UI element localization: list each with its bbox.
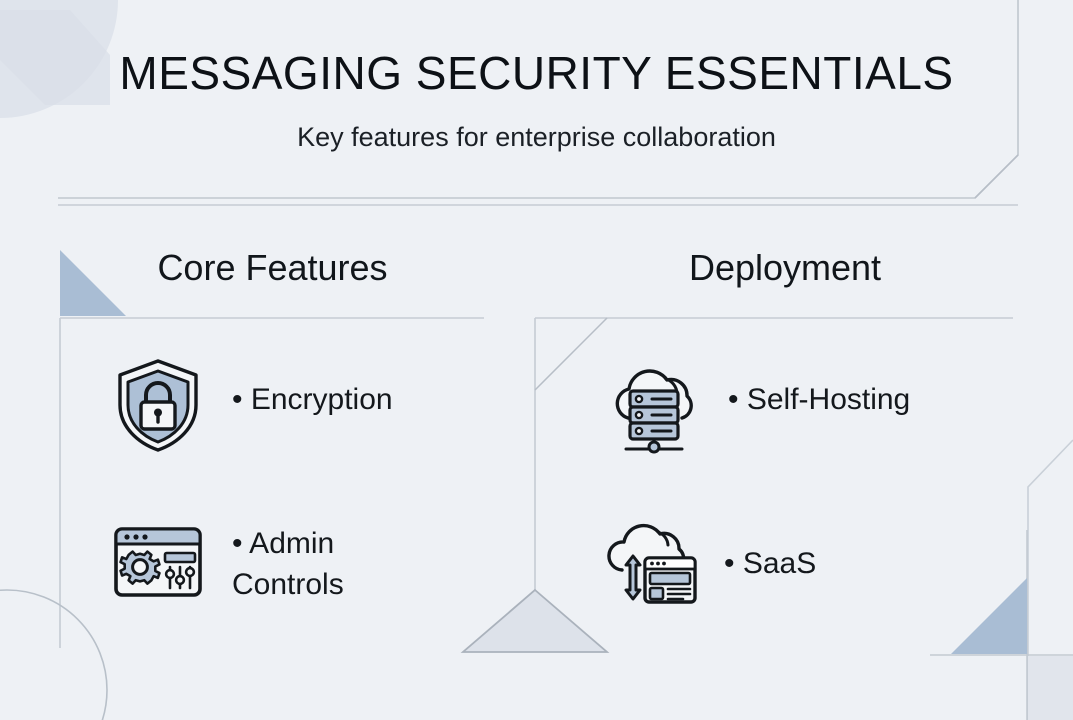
feature-label-admin-controls: • Admin Controls xyxy=(208,512,344,606)
right-column-chamfer xyxy=(535,318,607,390)
cloud-server-icon xyxy=(604,355,704,455)
feature-item-saas: • SaaS xyxy=(600,512,1030,612)
feature-item-self-hosting: • Self-Hosting xyxy=(604,355,1034,455)
column-title-core-features: Core Features xyxy=(60,250,485,286)
feature-item-encryption: • Encryption xyxy=(108,355,488,455)
right-panel-chamfer-decoration xyxy=(1028,440,1073,720)
bottom-right-panel-fill xyxy=(1028,656,1073,720)
shield-lock-icon xyxy=(108,355,208,455)
feature-item-admin-controls: • Admin Controls xyxy=(108,512,488,612)
admin-controls-icon xyxy=(108,512,208,612)
column-title-deployment: Deployment xyxy=(535,250,1035,286)
cloud-saas-icon xyxy=(600,512,700,612)
header: MESSAGING SECURITY ESSENTIALS Key featur… xyxy=(0,0,1073,210)
feature-label-saas: • SaaS xyxy=(700,512,816,585)
circle-outline-decoration xyxy=(0,590,107,720)
feature-label-self-hosting: • Self-Hosting xyxy=(704,355,910,421)
infographic-canvas: MESSAGING SECURITY ESSENTIALS Key featur… xyxy=(0,0,1073,720)
page-title: MESSAGING SECURITY ESSENTIALS xyxy=(0,50,1073,96)
page-subtitle: Key features for enterprise collaboratio… xyxy=(0,121,1073,153)
feature-label-encryption: • Encryption xyxy=(208,355,393,421)
